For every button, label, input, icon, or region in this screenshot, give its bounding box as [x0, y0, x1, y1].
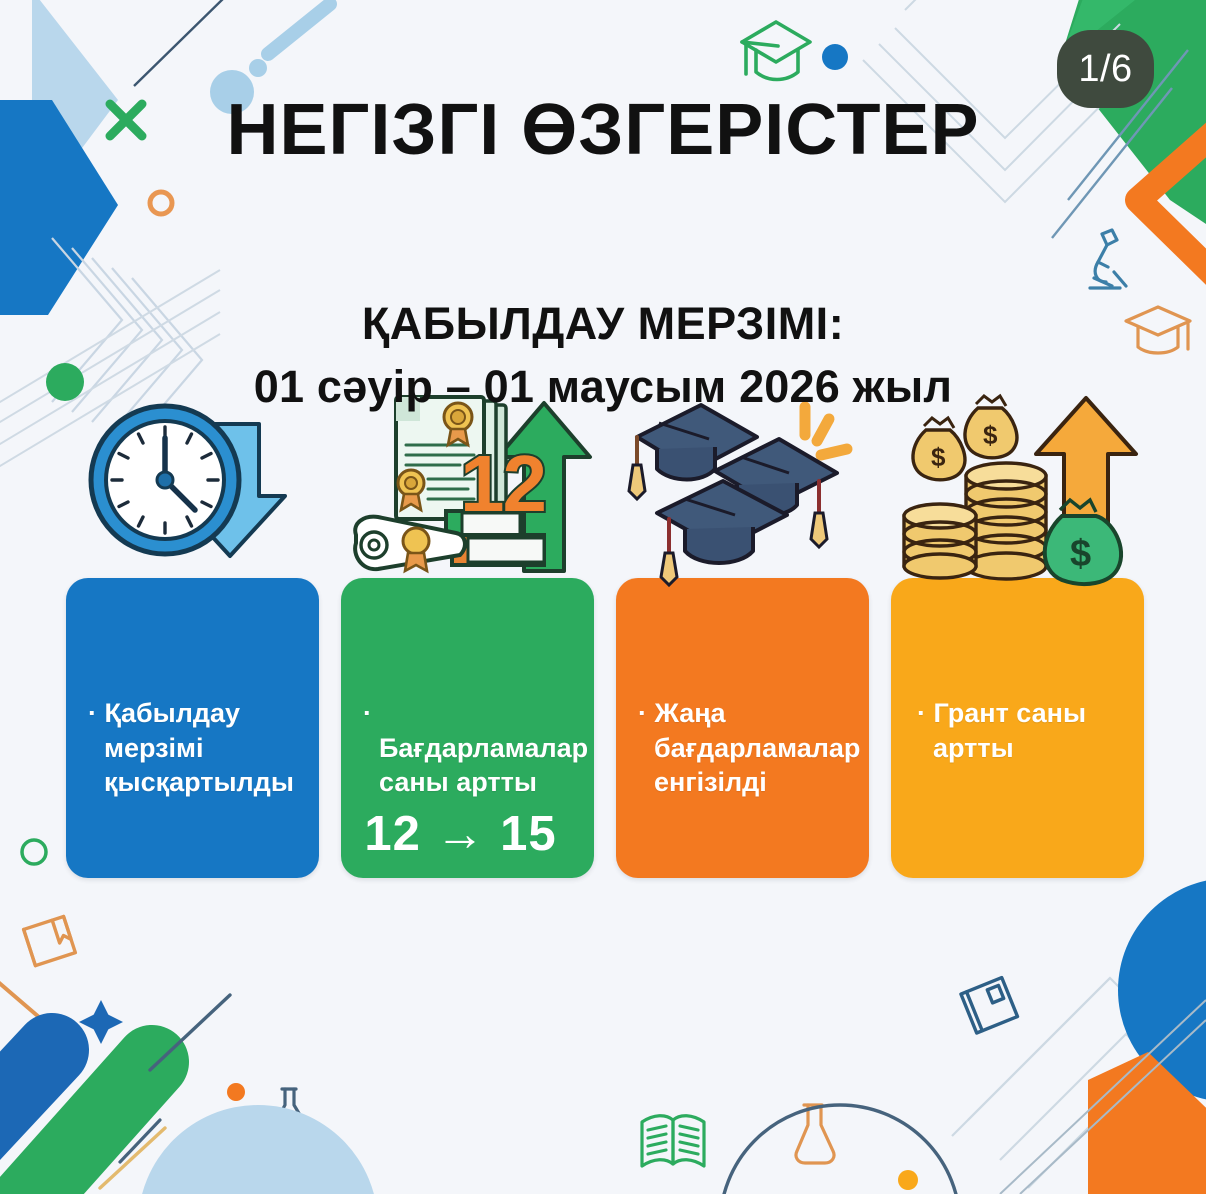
card-body: · Жаңа бағдарламалар енгізілді	[638, 696, 855, 800]
flask-outline-icon-blue	[273, 1089, 307, 1135]
changes-card-list: · Қабылдау мерзімі қысқартылды	[66, 578, 1144, 878]
coins-money-up-arrow-icon: $ $	[891, 443, 1144, 578]
book-open-outline-icon-green	[642, 1116, 704, 1166]
decor-circle-outline-slate	[720, 1105, 960, 1194]
decor-line-amber-bottomleft	[100, 1128, 165, 1188]
sparkle-icon-2	[79, 1011, 123, 1033]
diploma-books-up-arrow-icon: 12	[341, 443, 594, 578]
admission-period-block: ҚАБЫЛДАУ МЕРЗІМІ: 01 сәуір – 01 маусым 2…	[0, 298, 1206, 416]
card-body: · Бағдарламалар саны артты 12 → 15	[363, 696, 580, 862]
card-programs-count[interactable]: 12 · Бағдарламалар саны артты 12 → 15	[341, 578, 594, 878]
admission-period-label: ҚАБЫЛДАУ МЕРЗІМІ:	[0, 298, 1206, 350]
card-admission-period[interactable]: · Қабылдау мерзімі қысқартылды	[66, 578, 319, 878]
decor-circle-blue-bottomright	[1118, 878, 1206, 1102]
sparkle-icon	[90, 1000, 112, 1044]
page-title: НЕГІЗГІ ӨЗГЕРІСТЕР	[0, 94, 1206, 166]
clock-down-arrow-icon	[66, 443, 319, 578]
decor-line-slate-bottomleft	[150, 995, 230, 1070]
flask-outline-icon-orange	[796, 1105, 834, 1163]
card-body: · Қабылдау мерзімі қысқартылды	[88, 696, 305, 800]
card-new-programs[interactable]: · Жаңа бағдарламалар енгізілді	[616, 578, 869, 878]
card-text: · Грант саны артты	[917, 696, 1130, 765]
decor-circle-lightblue	[138, 1105, 378, 1194]
decor-lines-bottomright	[1000, 1000, 1206, 1194]
decor-line-orange-bottomleft	[0, 975, 54, 1030]
card-body: · Грант саны артты	[917, 696, 1130, 765]
decor-shape-orange-bottomright	[1088, 1052, 1206, 1194]
book-closed-outline-icon-orange	[24, 916, 76, 965]
decor-lines-topleft	[134, 0, 228, 86]
infographic-poster: 1/6 НЕГІЗГІ ӨЗГЕРІСТЕР ҚАБЫЛДАУ МЕРЗІМІ:…	[0, 0, 1206, 1194]
decor-bar-blue-bottomleft	[0, 1050, 52, 1170]
decor-bar-green-bottomleft	[20, 1062, 152, 1194]
svg-text:$: $	[931, 442, 946, 472]
card-text: · Қабылдау мерзімі қысқартылды	[88, 696, 305, 800]
decor-ring-orange	[150, 192, 172, 214]
microscope-outline-icon	[1090, 230, 1126, 288]
decor-dot-blue	[822, 44, 848, 70]
decor-diamond-outlines-bottomright	[952, 978, 1206, 1188]
svg-text:$: $	[1070, 533, 1091, 575]
card-grants-count[interactable]: $ $	[891, 578, 1144, 878]
card-text: · Бағдарламалар саны артты	[363, 696, 580, 800]
decor-dot-amber-bottom	[898, 1170, 918, 1190]
graduation-caps-icon	[616, 443, 869, 578]
page-indicator-label: 1/6	[1078, 48, 1132, 91]
decor-ring-green	[22, 840, 46, 864]
decor-line-slate-bottomleft-2	[120, 1120, 160, 1162]
graduation-cap-outline-icon	[742, 22, 810, 80]
page-indicator-badge: 1/6	[1057, 30, 1154, 108]
card-text: · Жаңа бағдарламалар енгізілді	[638, 696, 855, 800]
card-metric: 12 → 15	[363, 806, 580, 862]
svg-text:12: 12	[460, 439, 545, 528]
book-closed-outline-icon-blue	[961, 978, 1018, 1033]
admission-period-dates: 01 сәуір – 01 маусым 2026 жыл	[0, 358, 1206, 417]
svg-text:$: $	[983, 420, 998, 450]
decor-dot-orange	[227, 1083, 245, 1101]
